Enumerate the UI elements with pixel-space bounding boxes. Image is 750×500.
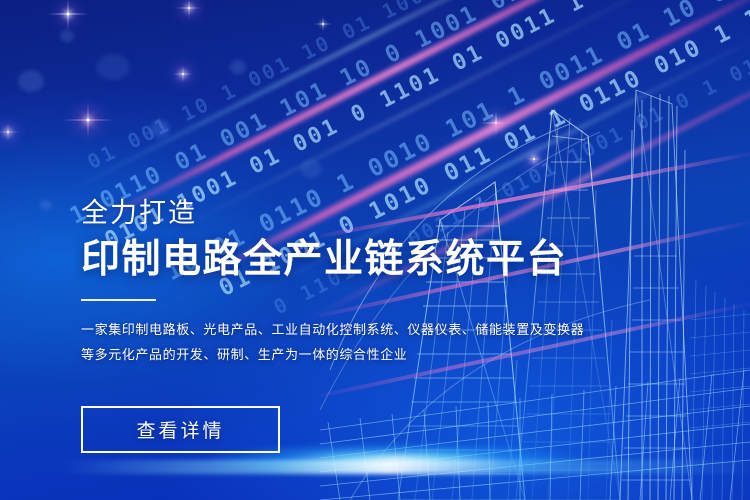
hero-banner: 01 001 10 1 001 10 01 1001 01 0 110 01 1… <box>0 0 750 500</box>
hero-description-line-1: 一家集印制电路板、光电产品、工业自动化控制系统、仪器仪表、储能装置及变换器 <box>81 317 641 342</box>
hero-divider <box>81 299 156 301</box>
binary-row: 01 001 10 1 001 10 01 1001 01 0 110 01 <box>83 0 603 174</box>
view-details-button[interactable]: 查看详情 <box>81 406 280 453</box>
horizon-beam-decoration <box>60 460 750 474</box>
hero-description-line-2: 等多元化产品的开发、研制、生产为一体的综合性企业 <box>81 342 641 367</box>
hero-eyebrow: 全力打造 <box>81 196 641 230</box>
hero-headline: 印制电路全产业链系统平台 <box>81 237 641 283</box>
hero-description: 一家集印制电路板、光电产品、工业自动化控制系统、仪器仪表、储能装置及变换器 等多… <box>81 317 641 367</box>
hero-text-block: 全力打造 印制电路全产业链系统平台 一家集印制电路板、光电产品、工业自动化控制系… <box>81 196 641 367</box>
